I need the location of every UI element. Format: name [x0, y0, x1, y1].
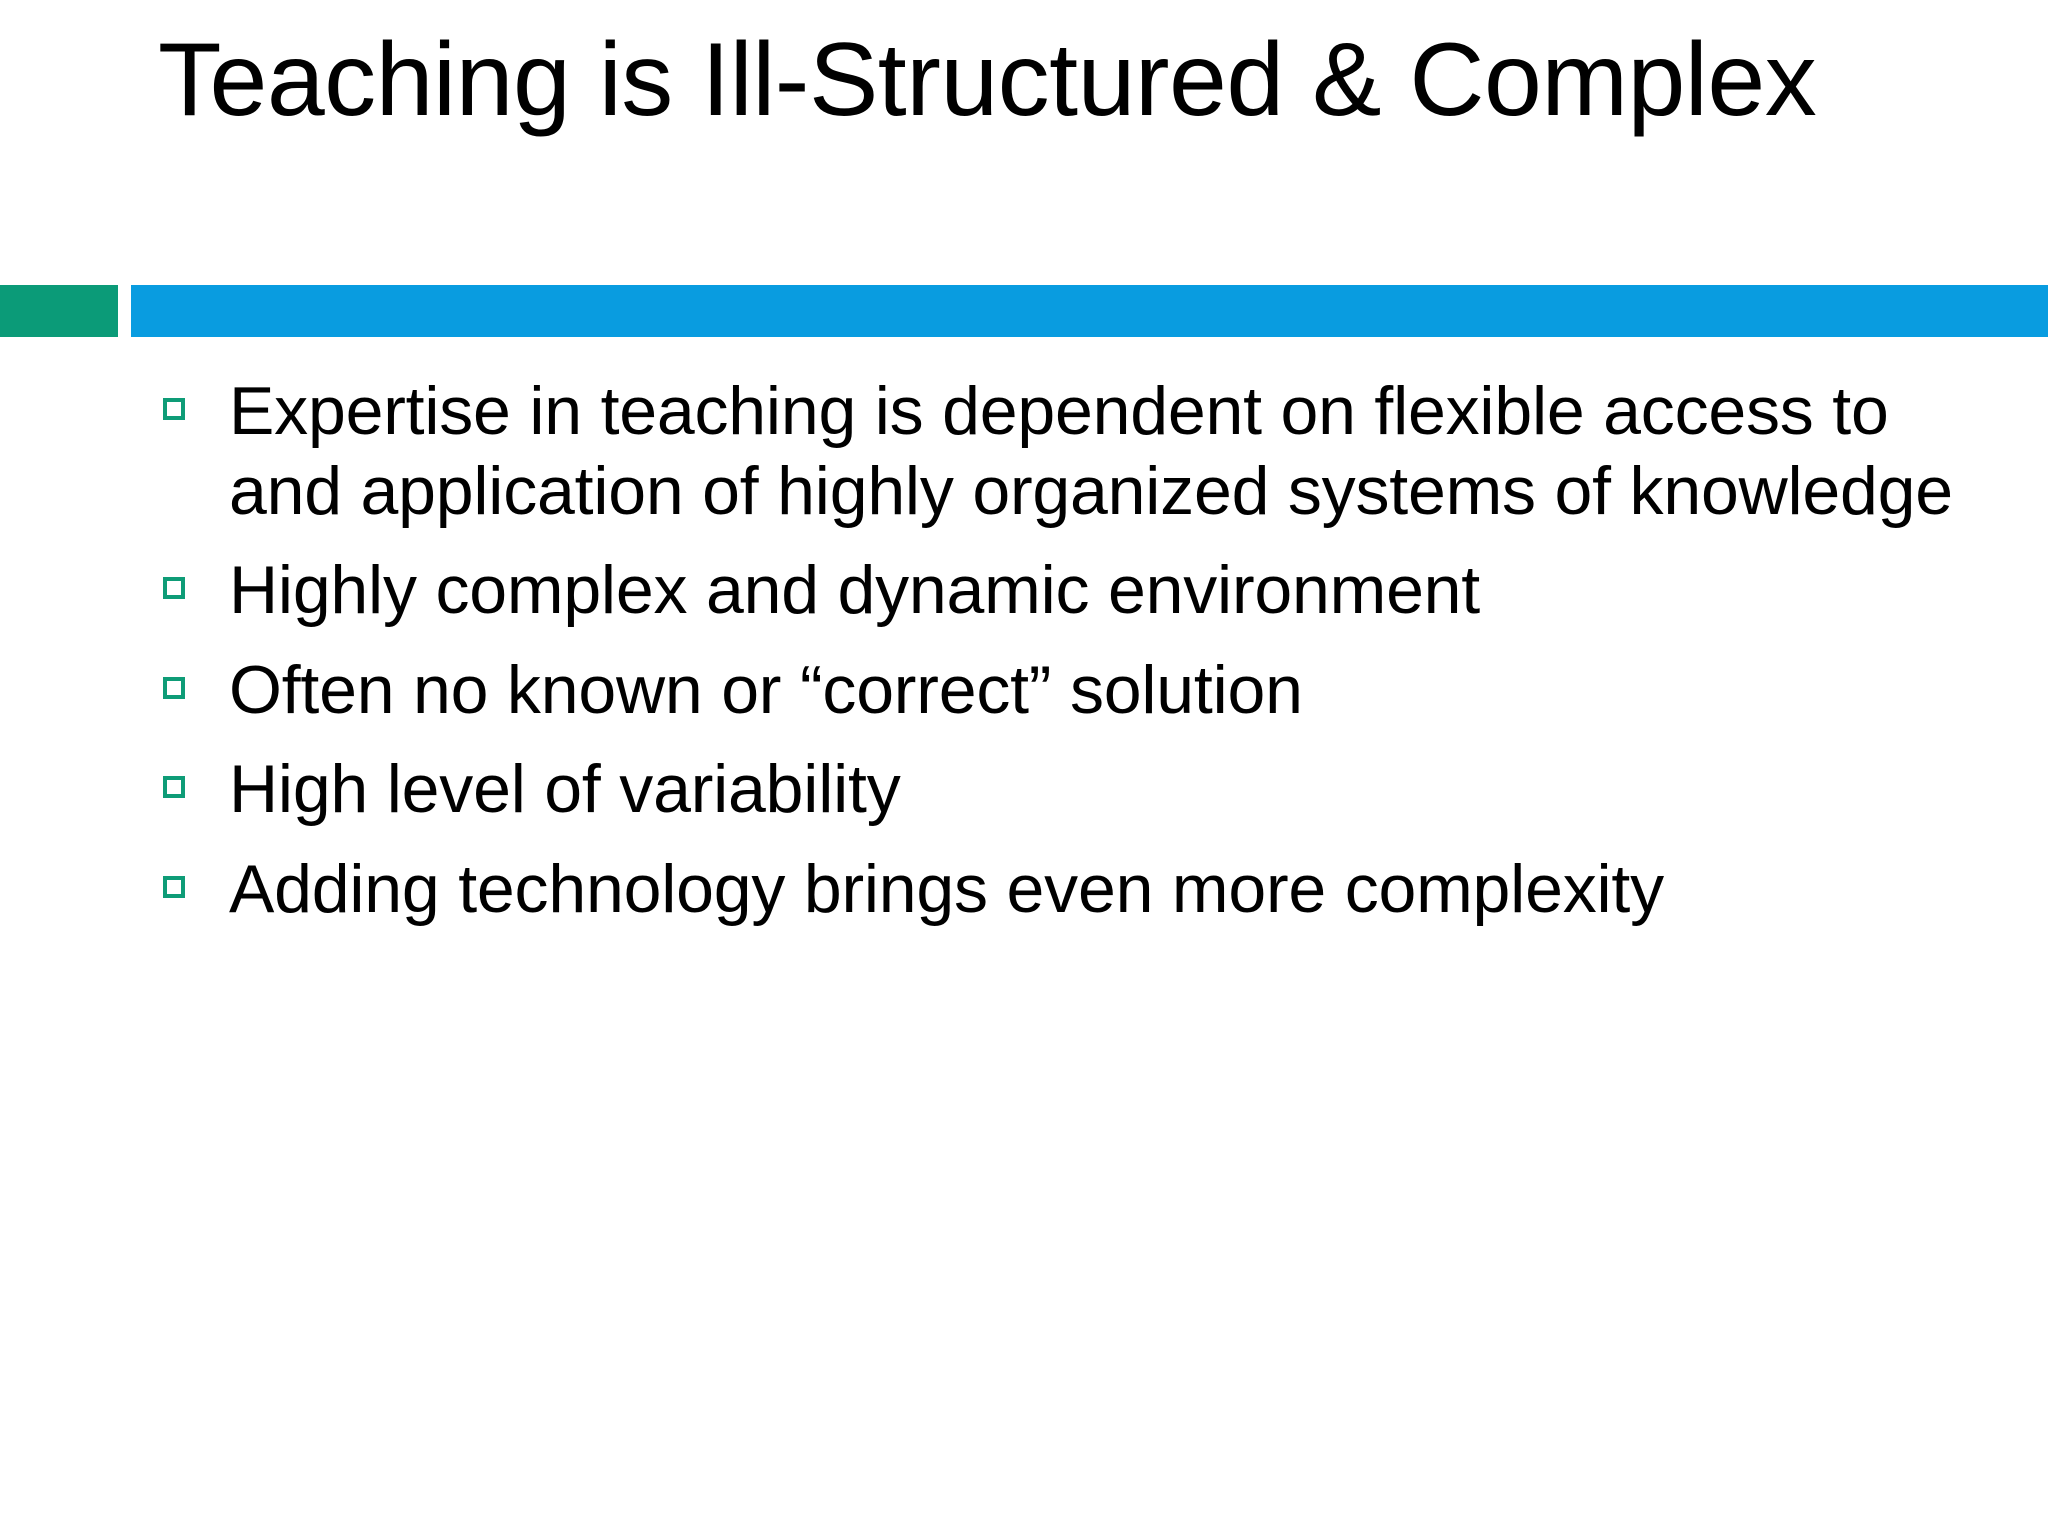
hollow-square-bullet-icon	[163, 398, 185, 420]
hollow-square-bullet-icon	[163, 677, 185, 699]
list-item: Adding technology brings even more compl…	[0, 850, 2048, 930]
presentation-slide: Teaching is Ill-Structured & Complex Exp…	[0, 0, 2048, 1536]
list-item-label: High level of variability	[229, 750, 1929, 830]
accent-rule	[0, 285, 2048, 337]
page-title: Teaching is Ill-Structured & Complex	[158, 14, 1958, 147]
accent-rule-green-block	[0, 285, 118, 337]
hollow-square-bullet-icon	[163, 776, 185, 798]
list-item-label: Expertise in teaching is dependent on fl…	[229, 372, 1954, 531]
hollow-square-bullet-icon	[163, 577, 185, 599]
hollow-square-bullet-icon	[163, 876, 185, 898]
list-item: Often no known or “correct” solution	[0, 651, 2048, 731]
list-item: High level of variability	[0, 750, 2048, 830]
list-item-label: Adding technology brings even more compl…	[229, 850, 1939, 930]
accent-rule-blue-bar	[131, 285, 2048, 337]
bullet-list: Expertise in teaching is dependent on fl…	[0, 372, 2048, 949]
list-item-label: Often no known or “correct” solution	[229, 651, 1929, 731]
list-item-label: Highly complex and dynamic environment	[229, 551, 1929, 631]
list-item: Highly complex and dynamic environment	[0, 551, 2048, 631]
list-item: Expertise in teaching is dependent on fl…	[0, 372, 2048, 531]
title-block: Teaching is Ill-Structured & Complex	[158, 14, 1958, 147]
